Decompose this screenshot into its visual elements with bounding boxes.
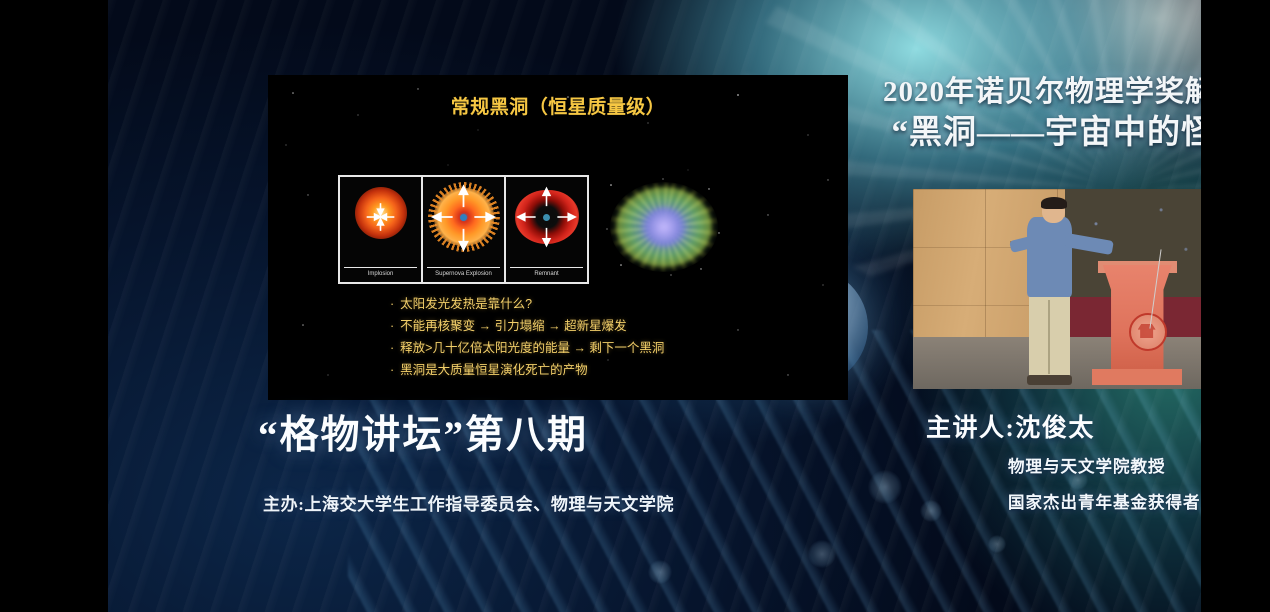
crab-nebula-image <box>601 173 726 281</box>
list-item: ·不能再核聚变 → 引力塌缩 → 超新星爆发 <box>390 315 834 337</box>
bokeh-dot <box>868 470 902 504</box>
poster-header-line2: “黑洞——宇宙中的怪兽” <box>850 112 1201 154</box>
diagram-panel-remnant: Remnant <box>506 177 587 282</box>
organizer-line: 主办:上海交大学生工作指导委员会、物理与天文学院 <box>263 490 674 515</box>
outward-arrows-icon <box>506 179 587 257</box>
photo-speaker-legs <box>1029 293 1070 377</box>
photo-speaker-hair <box>1041 197 1067 209</box>
speaker-affiliation: 物理与天文学院教授 <box>1008 453 1166 477</box>
forum-title: “格物讲坛”第八期 <box>258 404 588 460</box>
nebula-stars-icon <box>601 173 726 281</box>
speaker-name: 主讲人:沈俊太 <box>926 408 1095 444</box>
bokeh-dot <box>808 540 836 568</box>
supernova-icon <box>423 179 504 257</box>
poster-header-line1: 2020年诺贝尔物理学奖解读之 <box>850 74 1201 110</box>
bullet-marker: · <box>390 337 394 359</box>
imploding-star-icon <box>340 179 421 257</box>
photo-speaker-shoes <box>1027 375 1072 385</box>
list-item: ·黑洞是大质量恒星演化死亡的产物 <box>390 359 834 381</box>
panel-caption: Supernova Explosion <box>423 268 504 281</box>
photo-podium-base <box>1092 369 1182 385</box>
stellar-collapse-diagram: Implosion <box>338 175 589 284</box>
inward-arrows-icon <box>340 179 421 257</box>
bokeh-dot <box>648 560 672 584</box>
bokeh-dot <box>920 500 942 522</box>
photo-speaker-torso <box>1027 217 1072 297</box>
outward-arrows-icon <box>423 179 504 257</box>
diagram-panel-implosion: Implosion <box>340 177 423 282</box>
list-item: ·太阳发光发热是靠什么? <box>390 293 834 315</box>
presentation-slide[interactable]: 常规黑洞（恒星质量级） <box>268 75 848 400</box>
list-item: ·释放>几十亿倍太阳光度的能量 → 剩下一个黑洞 <box>390 337 834 359</box>
poster-header: 2020年诺贝尔物理学奖解读之 “黑洞——宇宙中的怪兽” <box>850 74 1201 154</box>
bokeh-dot <box>988 535 1006 553</box>
lecturer-photo[interactable] <box>913 189 1201 389</box>
bullet-marker: · <box>390 293 394 315</box>
speaker-honor: 国家杰出青年基金获得者 <box>1008 489 1201 513</box>
slide-bullet-list: ·太阳发光发热是靠什么? ·不能再核聚变 → 引力塌缩 → 超新星爆发 ·释放>… <box>390 293 834 381</box>
poster-canvas: 常规黑洞（恒星质量级） <box>108 0 1201 612</box>
screen-root: 常规黑洞（恒星质量级） <box>0 0 1270 612</box>
panel-caption: Remnant <box>506 268 587 281</box>
bullet-marker: · <box>390 359 394 381</box>
photo-university-emblem-icon <box>1129 313 1167 351</box>
bullet-text: 黑洞是大质量恒星演化死亡的产物 <box>400 363 588 377</box>
remnant-shell-icon <box>506 179 587 257</box>
panel-caption: Implosion <box>340 268 421 281</box>
bullet-marker: · <box>390 315 394 337</box>
slide-title: 常规黑洞（恒星质量级） <box>268 92 848 119</box>
bullet-text: 不能再核聚变 → 引力塌缩 → 超新星爆发 <box>400 319 626 333</box>
bullet-text: 太阳发光发热是靠什么? <box>400 297 532 311</box>
bullet-text: 释放>几十亿倍太阳光度的能量 → 剩下一个黑洞 <box>400 341 664 355</box>
diagram-panel-supernova: Supernova Explosion <box>423 177 506 282</box>
